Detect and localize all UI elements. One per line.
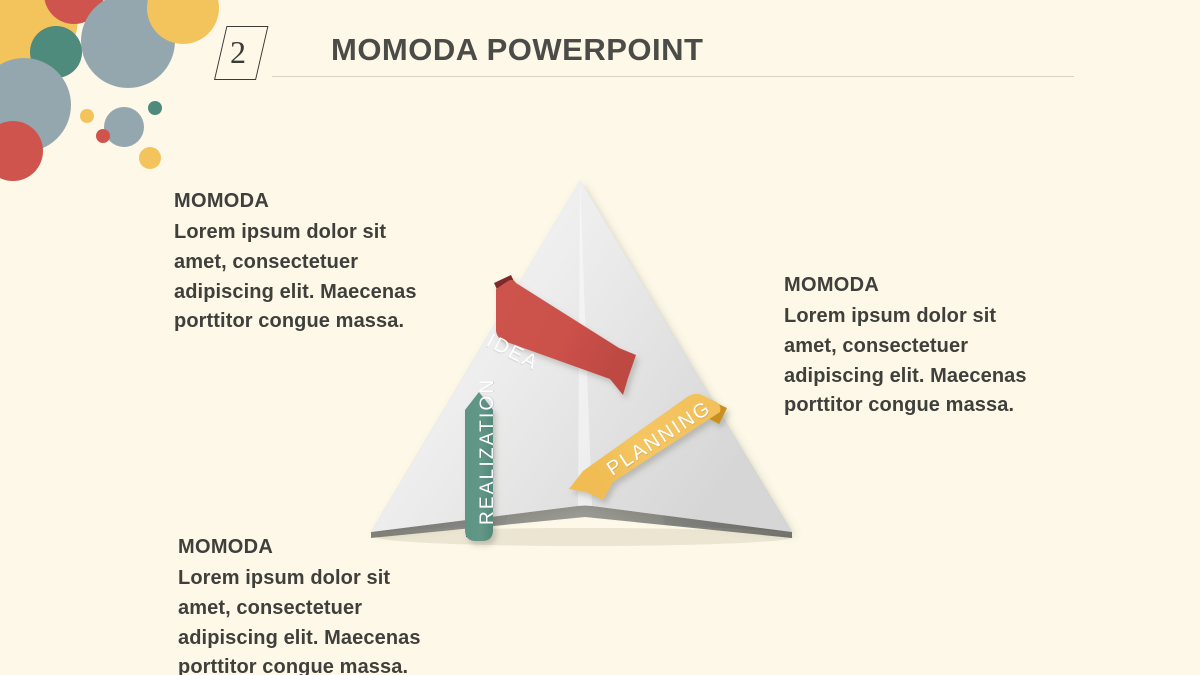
text-block-right: MOMODA Lorem ipsum dolor sit amet, conse… (784, 272, 1034, 421)
circle-teal-mid (30, 26, 82, 78)
text-block-bottom-body: Lorem ipsum dolor sit amet, consectetuer… (178, 564, 433, 675)
slide-header: 2 MOMODA POWERPOINT (214, 26, 1074, 82)
header-divider-rule (272, 76, 1074, 77)
circle-grayblue-dot-medium (104, 107, 144, 147)
circle-grayblue-left (0, 58, 71, 152)
pyramid-diagram: IDEA PLANNING REALIZATION (355, 165, 815, 565)
text-block-right-title: MOMODA (784, 272, 1034, 299)
circle-grayblue-top (81, 0, 175, 88)
slide-number-badge: 2 (214, 26, 270, 80)
slide-canvas: 2 MOMODA POWERPOINT MOMODA Lorem ipsum d… (0, 0, 1200, 675)
circle-yellow-dot-medium (139, 147, 161, 169)
circle-red-dot-small (96, 129, 110, 143)
ribbon-realization (465, 392, 493, 541)
circle-teal-dot-small (148, 101, 162, 115)
circle-yellow-top-right (147, 0, 219, 44)
circle-red-lower-left (0, 121, 43, 181)
circle-yellow-dot-small (80, 109, 94, 123)
text-block-right-body: Lorem ipsum dolor sit amet, consectetuer… (784, 302, 1034, 421)
page-title: MOMODA POWERPOINT (331, 32, 703, 68)
circle-yellow-large-topleft (0, 0, 78, 78)
pyramid-graphic (355, 165, 815, 565)
ribbon-realization-body (465, 392, 493, 541)
slide-number-text: 2 (214, 26, 262, 78)
circle-red-top (44, 0, 104, 24)
